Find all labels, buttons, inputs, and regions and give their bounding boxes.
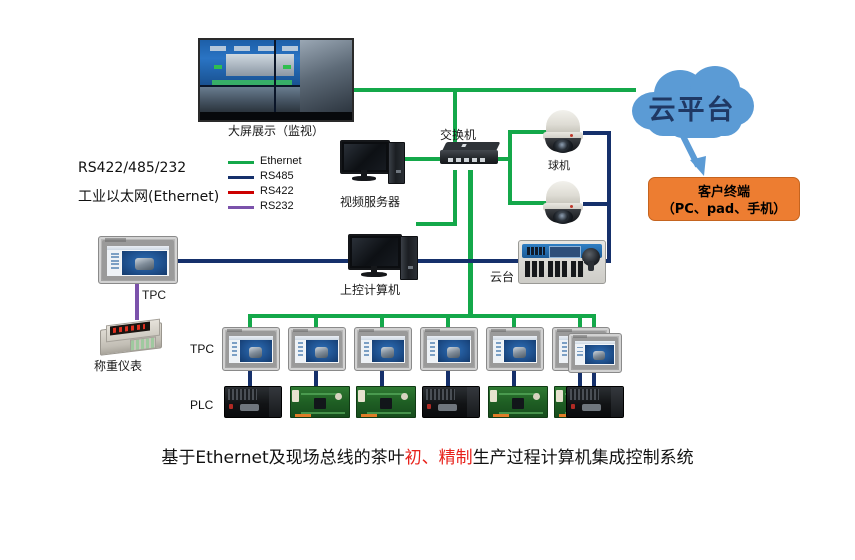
legend-swatch-ethernet xyxy=(228,161,254,164)
field-tpc-7-screen xyxy=(575,341,615,365)
field-plc-7-port xyxy=(582,404,601,412)
video-wall-chip-b xyxy=(283,65,291,69)
field-tpc-5-brand xyxy=(491,329,506,332)
field-tpc-4-screen-graphic xyxy=(438,340,470,362)
field-tpc-6-brand xyxy=(557,329,572,332)
host-computer-tower xyxy=(400,236,418,280)
field-tpc-4-screen xyxy=(427,336,471,363)
field-tpc-5-screen-graphic xyxy=(504,340,536,362)
field-tpc-2[interactable] xyxy=(288,327,346,371)
eth-host-stub xyxy=(416,222,457,226)
hmi-tpc-screen-row-2 xyxy=(111,256,119,258)
field-plc-1-port xyxy=(240,404,259,412)
ptz-keypad-mid[interactable] xyxy=(548,261,567,277)
side-text-line2: 工业以太网(Ethernet) xyxy=(78,186,219,206)
eth-drop-tpc-6 xyxy=(578,314,582,328)
field-plc-3[interactable] xyxy=(356,386,416,418)
rs232-tpc-scale xyxy=(135,278,139,320)
network-switch-port-5 xyxy=(480,158,485,162)
eth-trunk-top xyxy=(350,88,636,92)
ptz-seven-segment xyxy=(527,247,545,255)
field-tpc-3-screen-row-3 xyxy=(364,350,370,352)
dome-camera-2-housing xyxy=(546,181,580,205)
field-plc-3-power-terminal xyxy=(361,414,377,417)
field-tpc-4-brand xyxy=(425,329,440,332)
eth-videoserver-switch xyxy=(404,157,442,161)
field-plc-1-indicator xyxy=(229,404,233,408)
row-label-tpc: TPC xyxy=(190,342,214,356)
ptz-keypad-left[interactable] xyxy=(525,261,544,277)
field-plc-5-chip xyxy=(512,398,524,409)
field-plc-2-power-terminal xyxy=(295,414,311,417)
hmi-tpc-screen-graphic xyxy=(122,251,167,275)
field-tpc-1-screen-row-3 xyxy=(232,350,238,352)
video-wall-scene-right xyxy=(300,40,352,112)
field-tpc-5-screen-row-4 xyxy=(496,354,502,356)
field-tpc-2-screen-row-4 xyxy=(298,354,304,356)
video-wall-tile-b xyxy=(234,46,250,51)
weighing-instrument-label: 称重仪表 xyxy=(94,357,142,374)
hmi-tpc-screen-row-5 xyxy=(111,267,119,269)
side-text-line1: RS422/485/232 xyxy=(78,160,186,176)
ptz-joystick-stem xyxy=(588,261,594,271)
row-label-plc: PLC xyxy=(190,398,213,412)
field-plc-5-power-terminal xyxy=(493,414,509,417)
video-server[interactable] xyxy=(340,140,406,190)
field-tpc-5-screen-object xyxy=(513,347,526,358)
rs485-right-riser xyxy=(607,131,611,262)
field-tpc-2-screen-row-1 xyxy=(298,342,304,344)
field-tpc-3-screen-object xyxy=(381,347,394,358)
video-wall-split-h xyxy=(200,85,300,87)
video-wall-tile-a xyxy=(210,46,226,51)
ptz-lcd-screen xyxy=(549,246,581,258)
weighing-instrument[interactable] xyxy=(100,318,164,356)
video-server-monitor-base xyxy=(352,176,376,181)
field-tpc-7-screen-row-2 xyxy=(577,351,582,353)
field-tpc-6-screen-row-1 xyxy=(562,342,568,344)
video-server-label: 视频服务器 xyxy=(340,193,400,210)
network-switch[interactable] xyxy=(440,142,502,168)
legend-swatch-rs485 xyxy=(228,176,254,179)
eth-switch-host-drop xyxy=(453,170,457,225)
eth-field-riser xyxy=(468,170,473,318)
field-plc-4-port xyxy=(438,404,457,412)
host-computer-tower-button xyxy=(408,266,413,269)
field-tpc-1[interactable] xyxy=(222,327,280,371)
dome-camera-label: 球机 xyxy=(548,157,570,173)
field-plc-4-terminal-block xyxy=(426,389,455,399)
field-plc-1[interactable] xyxy=(224,386,282,418)
video-wall-tile-c xyxy=(258,46,274,51)
host-control-computer[interactable] xyxy=(348,234,418,286)
caption-part-1: 基于Ethernet及现场总线的茶叶 xyxy=(161,448,404,468)
eth-drop-tpc-4 xyxy=(446,314,450,328)
video-wall-tile-d xyxy=(282,46,298,51)
video-wall-display[interactable] xyxy=(198,38,354,122)
field-tpc-1-screen-row-1 xyxy=(232,342,238,344)
field-tpc-4-screen-row-3 xyxy=(430,350,436,352)
field-tpc-1-brand xyxy=(227,329,242,332)
ptz-keypad-right[interactable] xyxy=(571,261,584,277)
field-plc-5-connector xyxy=(490,390,497,402)
host-computer-monitor-base xyxy=(361,272,387,277)
cloud-platform-label: 云平台 xyxy=(628,88,756,127)
field-plc-7[interactable] xyxy=(566,386,624,418)
dome-camera-1-indicator xyxy=(570,134,573,137)
network-switch-label: 交换机 xyxy=(440,126,476,143)
field-tpc-6-screen-row-3 xyxy=(562,350,568,352)
field-tpc-6-screen-row-4 xyxy=(562,354,568,356)
hmi-tpc-screen xyxy=(107,246,169,276)
field-plc-7-terminal-block xyxy=(570,389,599,399)
ptz-controller[interactable] xyxy=(518,240,606,284)
eth-drop-tpc-2 xyxy=(314,314,318,328)
video-server-monitor xyxy=(340,140,390,174)
legend-label-ethernet: Ethernet xyxy=(260,155,302,167)
field-tpc-1-screen-graphic xyxy=(240,340,272,362)
field-tpc-4-screen-row-2 xyxy=(430,346,436,348)
network-switch-port-4 xyxy=(472,158,477,162)
field-tpc-3-screen-row-4 xyxy=(364,354,370,356)
dome-camera-2-lens-inner xyxy=(558,213,568,221)
field-tpc-7-screen-graphic xyxy=(585,345,614,364)
field-tpc-5-screen-row-2 xyxy=(496,346,502,348)
field-tpc-3[interactable] xyxy=(354,327,412,371)
legend-swatch-rs232 xyxy=(228,206,254,209)
field-plc-4-side-module xyxy=(467,387,479,417)
hmi-tpc-brand xyxy=(105,238,125,242)
field-plc-2-chip xyxy=(314,398,326,409)
hmi-tpc-screen-row-3 xyxy=(111,260,119,262)
dome-camera-1-lens-inner xyxy=(558,142,568,150)
host-computer-monitor xyxy=(348,234,402,270)
field-plc-3-connector xyxy=(358,390,365,402)
field-plc-2-capacitor xyxy=(335,393,342,400)
field-tpc-3-screen-row-1 xyxy=(364,342,370,344)
eth-drop-tpc-5 xyxy=(512,314,516,328)
field-tpc-2-screen-row-2 xyxy=(298,346,304,348)
field-plc-7-indicator xyxy=(571,404,575,408)
cloud-platform[interactable]: 云平台 xyxy=(628,66,756,140)
dome-camera-1[interactable] xyxy=(540,110,586,156)
legend-label-rs232: RS232 xyxy=(260,200,294,212)
field-plc-7-side-module xyxy=(611,387,623,417)
field-plc-4-indicator xyxy=(427,404,431,408)
field-tpc-4[interactable] xyxy=(420,327,478,371)
dome-camera-2-indicator xyxy=(570,205,573,208)
hmi-tpc-screen-row-1 xyxy=(111,253,119,255)
network-switch-port-2 xyxy=(456,158,461,162)
field-tpc-1-screen xyxy=(229,336,273,363)
legend-label-rs422: RS422 xyxy=(260,185,294,197)
hmi-tpc-screen-row-4 xyxy=(111,263,119,265)
video-wall-label: 大屏展示（监视） xyxy=(228,122,324,139)
field-tpc-2-screen xyxy=(295,336,339,363)
field-tpc-6-screen-row-2 xyxy=(562,346,568,348)
field-tpc-3-brand xyxy=(359,329,374,332)
eth-drop-tpc-3 xyxy=(380,314,384,328)
dome-camera-1-housing xyxy=(546,110,580,134)
field-tpc-2-brand xyxy=(293,329,308,332)
field-tpc-3-screen-row-2 xyxy=(364,346,370,348)
network-switch-port-1 xyxy=(448,158,453,162)
field-plc-5-capacitor xyxy=(533,393,540,400)
client-terminal-line1: 客户终端 xyxy=(649,184,799,201)
caption-part-2: 生产过程计算机集成控制系统 xyxy=(473,448,694,468)
field-tpc-4-screen-row-4 xyxy=(430,354,436,356)
caption-part-highlight: 初、精制 xyxy=(405,448,473,468)
field-plc-5[interactable] xyxy=(488,386,548,418)
field-tpc-4-screen-row-1 xyxy=(430,342,436,344)
field-plc-3-chip xyxy=(380,398,392,409)
field-tpc-7[interactable] xyxy=(568,333,622,373)
field-tpc-5-screen xyxy=(493,336,537,363)
field-tpc-1-screen-row-2 xyxy=(232,346,238,348)
field-tpc-4-screen-object xyxy=(447,347,460,358)
legend-swatch-rs422 xyxy=(228,191,254,194)
field-plc-3-capacitor xyxy=(401,393,408,400)
hmi-tpc-screen-object xyxy=(135,258,153,270)
client-terminal-box[interactable]: 客户终端 （PC、pad、手机） xyxy=(648,177,800,221)
field-tpc-3-screen xyxy=(361,336,405,363)
video-wall-chip-a xyxy=(214,65,222,69)
field-plc-2-connector xyxy=(292,390,299,402)
field-plc-4[interactable] xyxy=(422,386,480,418)
eth-field-bus xyxy=(248,314,596,318)
field-tpc-7-screen-row-3 xyxy=(577,354,582,356)
field-tpc-1-screen-object xyxy=(249,347,262,358)
video-server-tower-button xyxy=(396,170,401,173)
field-plc-2[interactable] xyxy=(290,386,350,418)
field-tpc-7-screen-object xyxy=(593,351,605,361)
video-wall-frame-bottom xyxy=(200,112,352,120)
hmi-tpc-panel[interactable] xyxy=(98,236,178,284)
field-plc-1-side-module xyxy=(269,387,281,417)
host-control-computer-label: 上控计算机 xyxy=(340,281,400,298)
field-tpc-1-screen-row-4 xyxy=(232,354,238,356)
field-plc-1-terminal-block xyxy=(228,389,257,399)
eth-drop-tpc-1 xyxy=(248,314,252,328)
field-tpc-7-screen-row-1 xyxy=(577,347,582,349)
ptz-label: 云台 xyxy=(490,268,514,285)
video-server-tower xyxy=(388,142,405,184)
diagram-caption: 基于Ethernet及现场总线的茶叶初、精制生产过程计算机集成控制系统 xyxy=(0,443,855,468)
field-tpc-5-screen-row-3 xyxy=(496,350,502,352)
field-tpc-2-screen-object xyxy=(315,347,328,358)
field-plc-6-connector xyxy=(556,390,563,402)
dome-camera-2[interactable] xyxy=(540,181,586,227)
diagram-canvas: 大屏展示（监视） RS422/485/232 工业以太网(Ethernet) E… xyxy=(0,0,855,560)
field-tpc-2-screen-row-3 xyxy=(298,350,304,352)
hmi-tpc-label: TPC xyxy=(142,288,166,302)
field-tpc-7-brand xyxy=(573,335,587,338)
legend-label-rs485: RS485 xyxy=(260,170,294,182)
client-terminal-line2: （PC、pad、手机） xyxy=(649,201,799,218)
cloud-to-client-arrow xyxy=(676,132,716,180)
video-wall-split-v xyxy=(274,40,276,112)
network-switch-port-3 xyxy=(464,158,469,162)
eth-camera-riser xyxy=(508,130,512,205)
field-tpc-5-screen-row-1 xyxy=(496,342,502,344)
field-tpc-3-screen-graphic xyxy=(372,340,404,362)
field-tpc-2-screen-graphic xyxy=(306,340,338,362)
field-tpc-5[interactable] xyxy=(486,327,544,371)
